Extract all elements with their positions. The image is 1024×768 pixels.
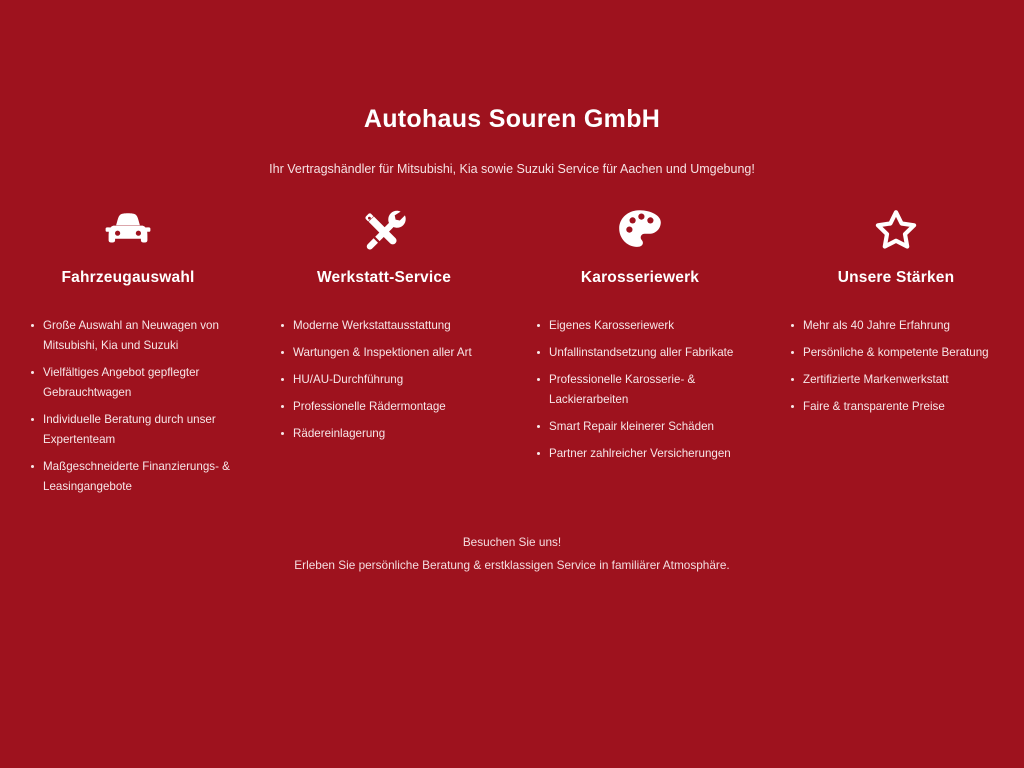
palette-icon bbox=[618, 205, 662, 255]
list-item: Individuelle Beratung durch unser Expert… bbox=[30, 410, 234, 450]
feature-list: Eigenes Karosseriewerk Unfallinstandsetz… bbox=[534, 316, 746, 471]
page-footer: Besuchen Sie uns! Erleben Sie persönlich… bbox=[0, 531, 1024, 577]
list-item: Unfallinstandsetzung aller Fabrikate bbox=[536, 343, 746, 363]
list-item: Große Auswahl an Neuwagen von Mitsubishi… bbox=[30, 316, 234, 356]
list-item: Professionelle Rädermontage bbox=[280, 397, 490, 417]
star-icon bbox=[873, 205, 919, 255]
list-item: Mehr als 40 Jahre Erfahrung bbox=[790, 316, 1002, 336]
feature-column-werkstatt-service: Werkstatt-Service Moderne Werkstattausst… bbox=[256, 205, 512, 451]
list-item: Moderne Werkstattausstattung bbox=[280, 316, 490, 336]
tools-icon bbox=[362, 205, 406, 255]
feature-list: Moderne Werkstattausstattung Wartungen &… bbox=[278, 316, 490, 451]
list-item: Persönliche & kompetente Beratung bbox=[790, 343, 1002, 363]
list-item: Smart Repair kleinerer Schäden bbox=[536, 417, 746, 437]
list-item: Rädereinlagerung bbox=[280, 424, 490, 444]
list-item: Wartungen & Inspektionen aller Art bbox=[280, 343, 490, 363]
feature-list: Große Auswahl an Neuwagen von Mitsubishi… bbox=[22, 316, 234, 504]
feature-column-karosseriewerk: Karosseriewerk Eigenes Karosseriewerk Un… bbox=[512, 205, 768, 471]
page-title: Autohaus Souren GmbH bbox=[0, 105, 1024, 134]
feature-list: Mehr als 40 Jahre Erfahrung Persönliche … bbox=[790, 316, 1002, 424]
feature-column-title: Werkstatt-Service bbox=[317, 269, 451, 287]
list-item: Vielfältiges Angebot gepflegter Gebrauch… bbox=[30, 363, 234, 403]
page-root: Autohaus Souren GmbH Ihr Vertragshändler… bbox=[0, 0, 1024, 768]
list-item: Maßgeschneiderte Finanzierungs- & Leasin… bbox=[30, 457, 234, 497]
page-subtitle: Ihr Vertragshändler für Mitsubishi, Kia … bbox=[0, 161, 1024, 177]
feature-column-title: Karosseriewerk bbox=[581, 269, 699, 287]
page-header: Autohaus Souren GmbH Ihr Vertragshändler… bbox=[0, 105, 1024, 177]
feature-column-fahrzeugauswahl: Fahrzeugauswahl Große Auswahl an Neuwage… bbox=[0, 205, 256, 504]
feature-column-unsere-staerken: Unsere Stärken Mehr als 40 Jahre Erfahru… bbox=[768, 205, 1024, 424]
feature-columns: Fahrzeugauswahl Große Auswahl an Neuwage… bbox=[0, 205, 1024, 504]
car-icon bbox=[105, 205, 151, 255]
list-item: Professionelle Karosserie- & Lackierarbe… bbox=[536, 370, 746, 410]
feature-column-title: Unsere Stärken bbox=[838, 269, 955, 287]
footer-tagline: Erleben Sie persönliche Beratung & erstk… bbox=[0, 554, 1024, 577]
list-item: Zertifizierte Markenwerkstatt bbox=[790, 370, 1002, 390]
list-item: Partner zahlreicher Versicherungen bbox=[536, 444, 746, 464]
list-item: Eigenes Karosseriewerk bbox=[536, 316, 746, 336]
footer-call-to-action: Besuchen Sie uns! bbox=[0, 531, 1024, 554]
list-item: Faire & transparente Preise bbox=[790, 397, 1002, 417]
list-item: HU/AU-Durchführung bbox=[280, 370, 490, 390]
feature-column-title: Fahrzeugauswahl bbox=[61, 269, 194, 287]
